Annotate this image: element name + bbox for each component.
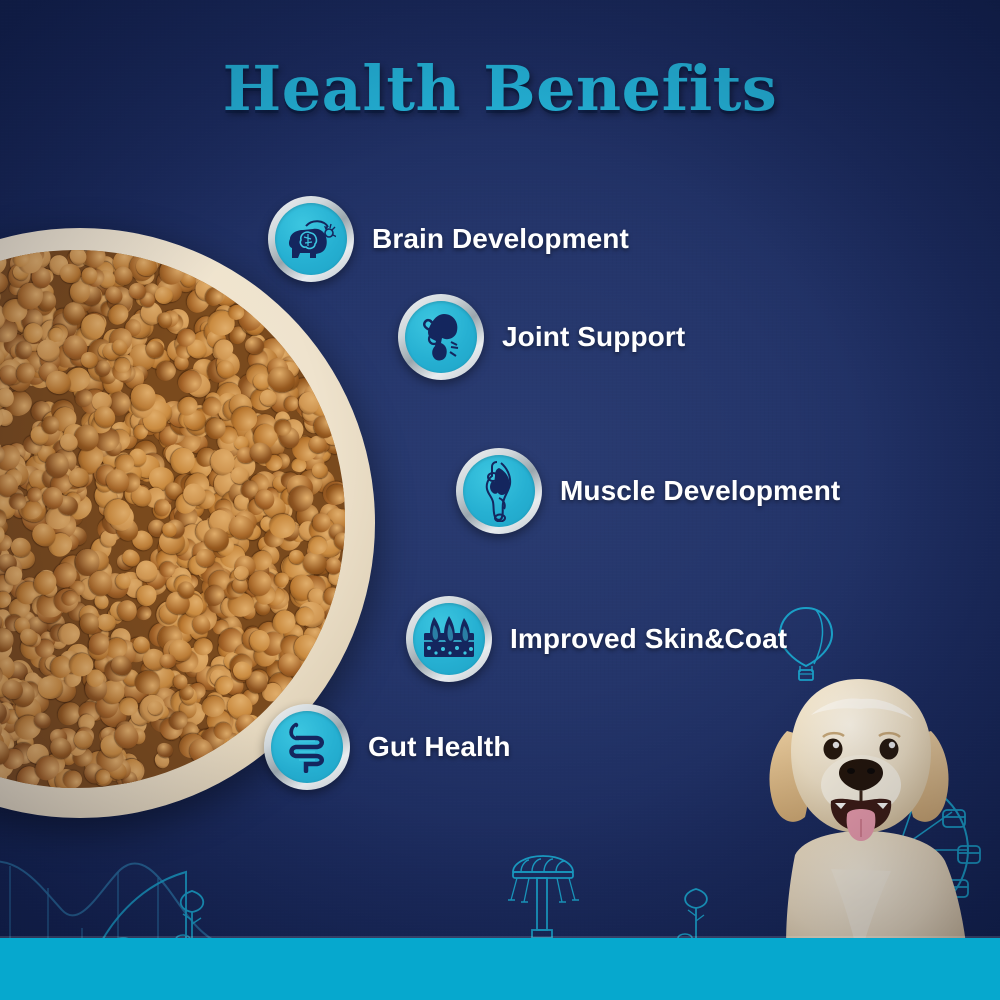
hair-follicle-skin-icon — [413, 603, 485, 675]
benefit-label: Muscle Development — [560, 475, 840, 507]
hip-joint-bone-icon — [405, 301, 477, 373]
benefit-badge[interactable] — [268, 196, 354, 282]
benefit-row-improved-skin-coat[interactable]: Improved Skin&Coat — [406, 596, 787, 682]
benefit-row-joint-support[interactable]: Joint Support — [398, 294, 685, 380]
benefit-label: Gut Health — [368, 731, 511, 763]
poster-canvas: Health Benefits Brain Development — [0, 0, 1000, 1000]
leg-muscle-icon — [463, 455, 535, 527]
intestine-icon — [271, 711, 343, 783]
benefit-row-gut-health[interactable]: Gut Health — [264, 704, 511, 790]
tree-lineart — [170, 890, 214, 942]
benefit-badge[interactable] — [456, 448, 542, 534]
page-title: Health Benefits — [0, 52, 1000, 125]
dog-head-brain-icon — [275, 203, 347, 275]
benefit-badge[interactable] — [398, 294, 484, 380]
benefit-label: Brain Development — [372, 223, 629, 255]
benefit-label: Joint Support — [502, 321, 685, 353]
benefit-badge[interactable] — [264, 704, 350, 790]
bottom-accent-bar — [0, 938, 1000, 1000]
benefit-row-brain-development[interactable]: Brain Development — [268, 196, 629, 282]
swing-carousel-lineart — [505, 850, 581, 940]
benefit-row-muscle-development[interactable]: Muscle Development — [456, 448, 840, 534]
benefit-label: Improved Skin&Coat — [510, 623, 787, 655]
tree-lineart — [672, 888, 714, 942]
benefit-badge[interactable] — [406, 596, 492, 682]
